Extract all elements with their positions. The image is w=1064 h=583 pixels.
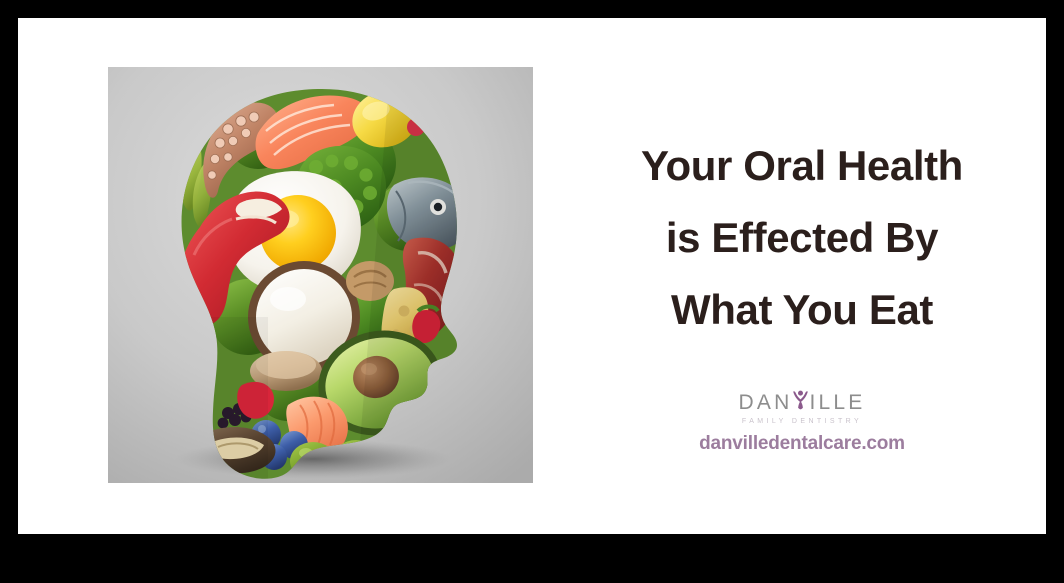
- food-head-illustration: [108, 67, 533, 483]
- person-raised-arms-v-glyph: [792, 390, 809, 411]
- person-raised-arms-v-icon: [792, 390, 809, 411]
- poster-canvas: Your Oral Health is Effected By What You…: [18, 18, 1046, 534]
- poster: Your Oral Health is Effected By What You…: [0, 0, 1064, 583]
- logo-wordmark-prefix: DAN: [739, 392, 793, 413]
- headline: Your Oral Health is Effected By What You…: [558, 130, 1046, 346]
- food-head-photo-inner: [108, 67, 533, 483]
- logo-wordmark-suffix: ILLE: [809, 392, 865, 413]
- food-head-photo: [108, 67, 533, 483]
- logo-tagline: FAMILY DENTISTRY: [558, 418, 1046, 425]
- headline-line-2: is Effected By: [558, 202, 1046, 274]
- headline-line-3: What You Eat: [558, 274, 1046, 346]
- brand-logo[interactable]: DAN ILLE FAMILY DENTISTRY danvilledental…: [558, 388, 1046, 453]
- logo-wordmark: DAN ILLE: [739, 388, 866, 410]
- text-panel: Your Oral Health is Effected By What You…: [558, 18, 1046, 534]
- website-url[interactable]: danvilledentalcare.com: [558, 434, 1046, 453]
- headline-line-1: Your Oral Health: [558, 130, 1046, 202]
